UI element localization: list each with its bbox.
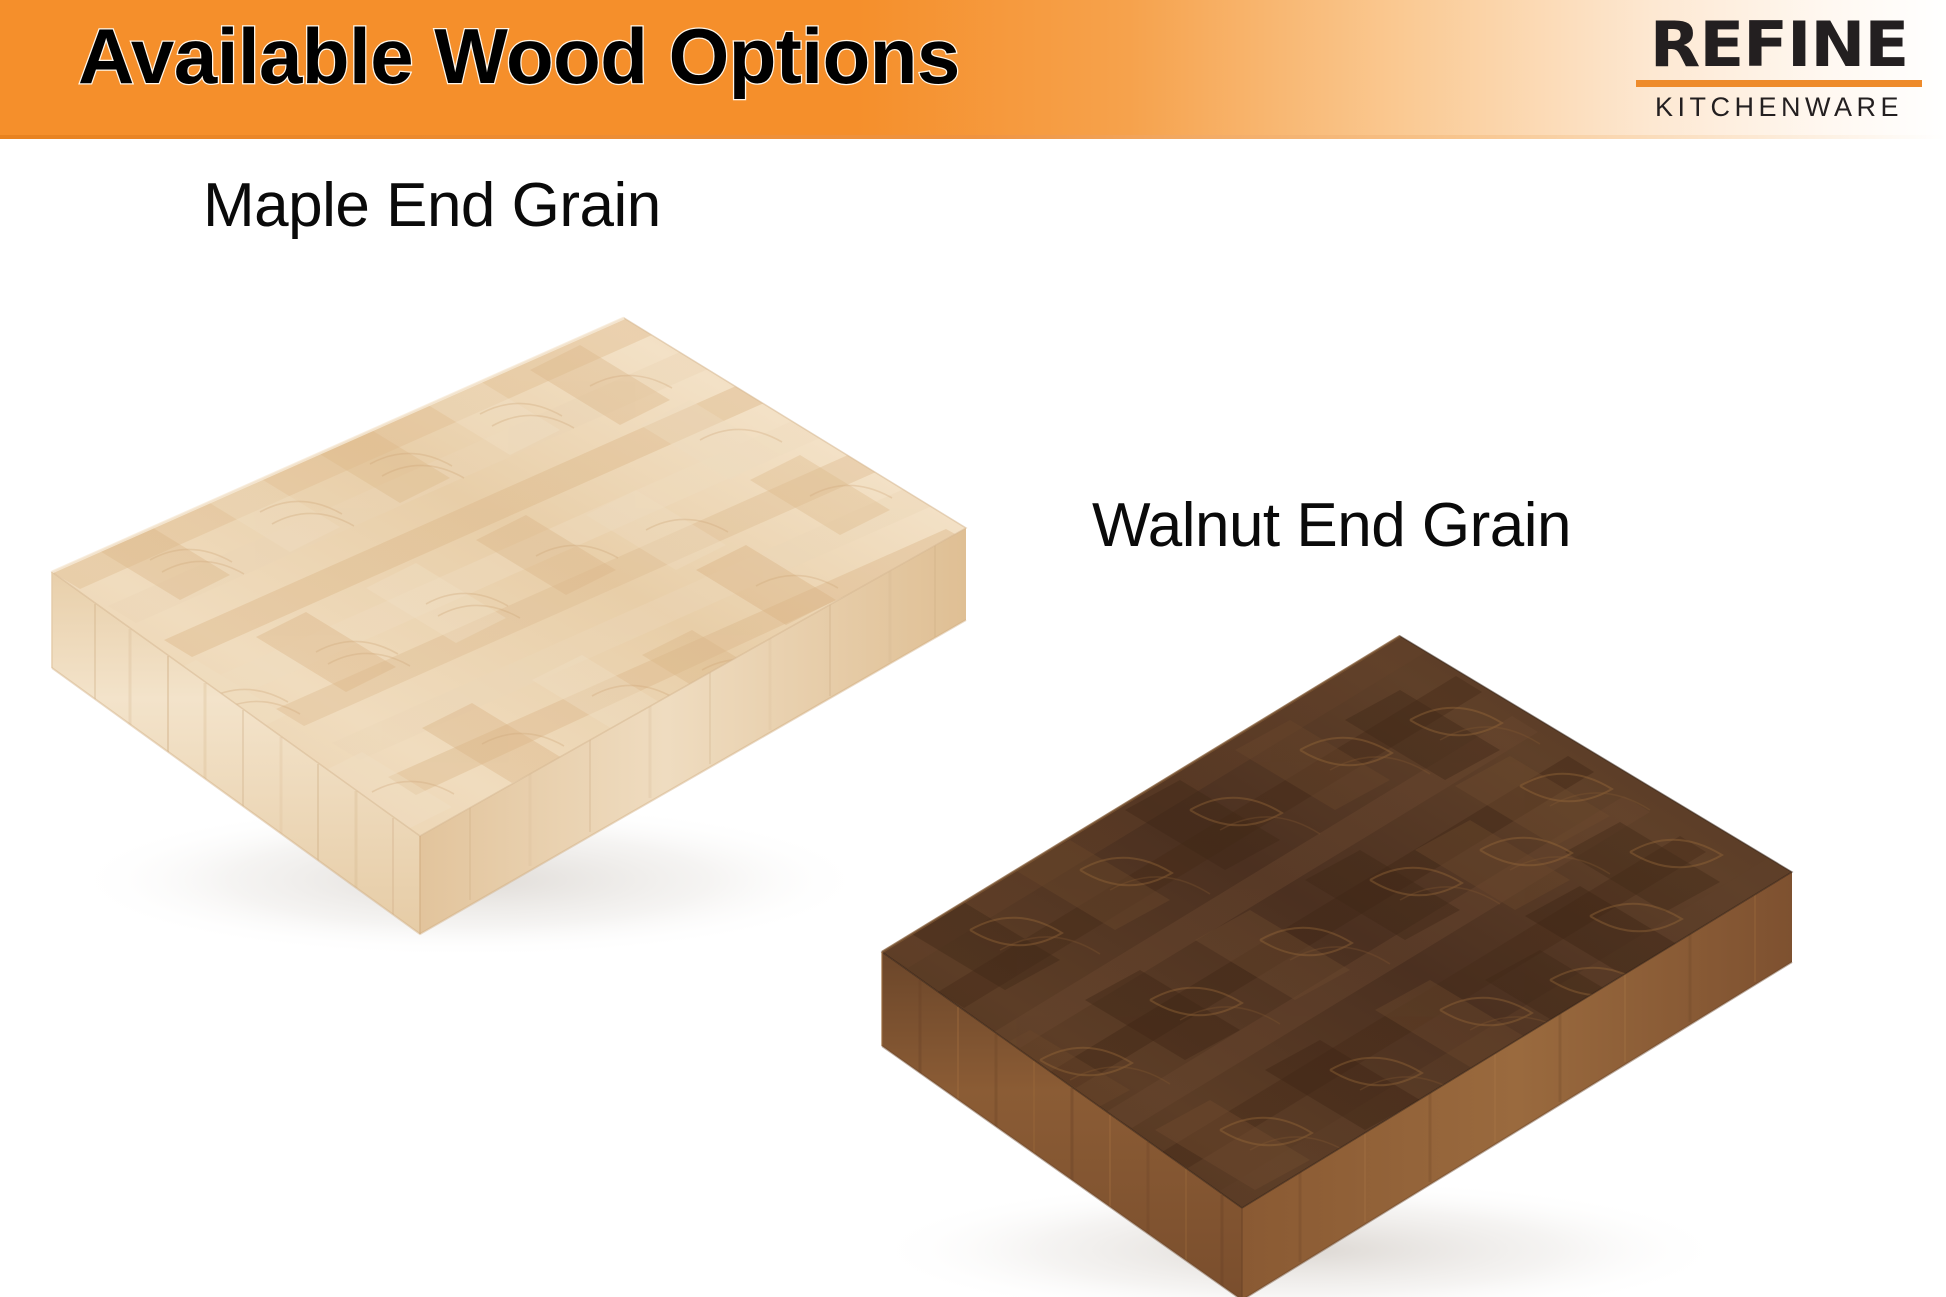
walnut-cutting-board [870, 636, 1792, 1297]
product-images [0, 0, 1946, 1297]
maple-cutting-board [52, 318, 966, 958]
